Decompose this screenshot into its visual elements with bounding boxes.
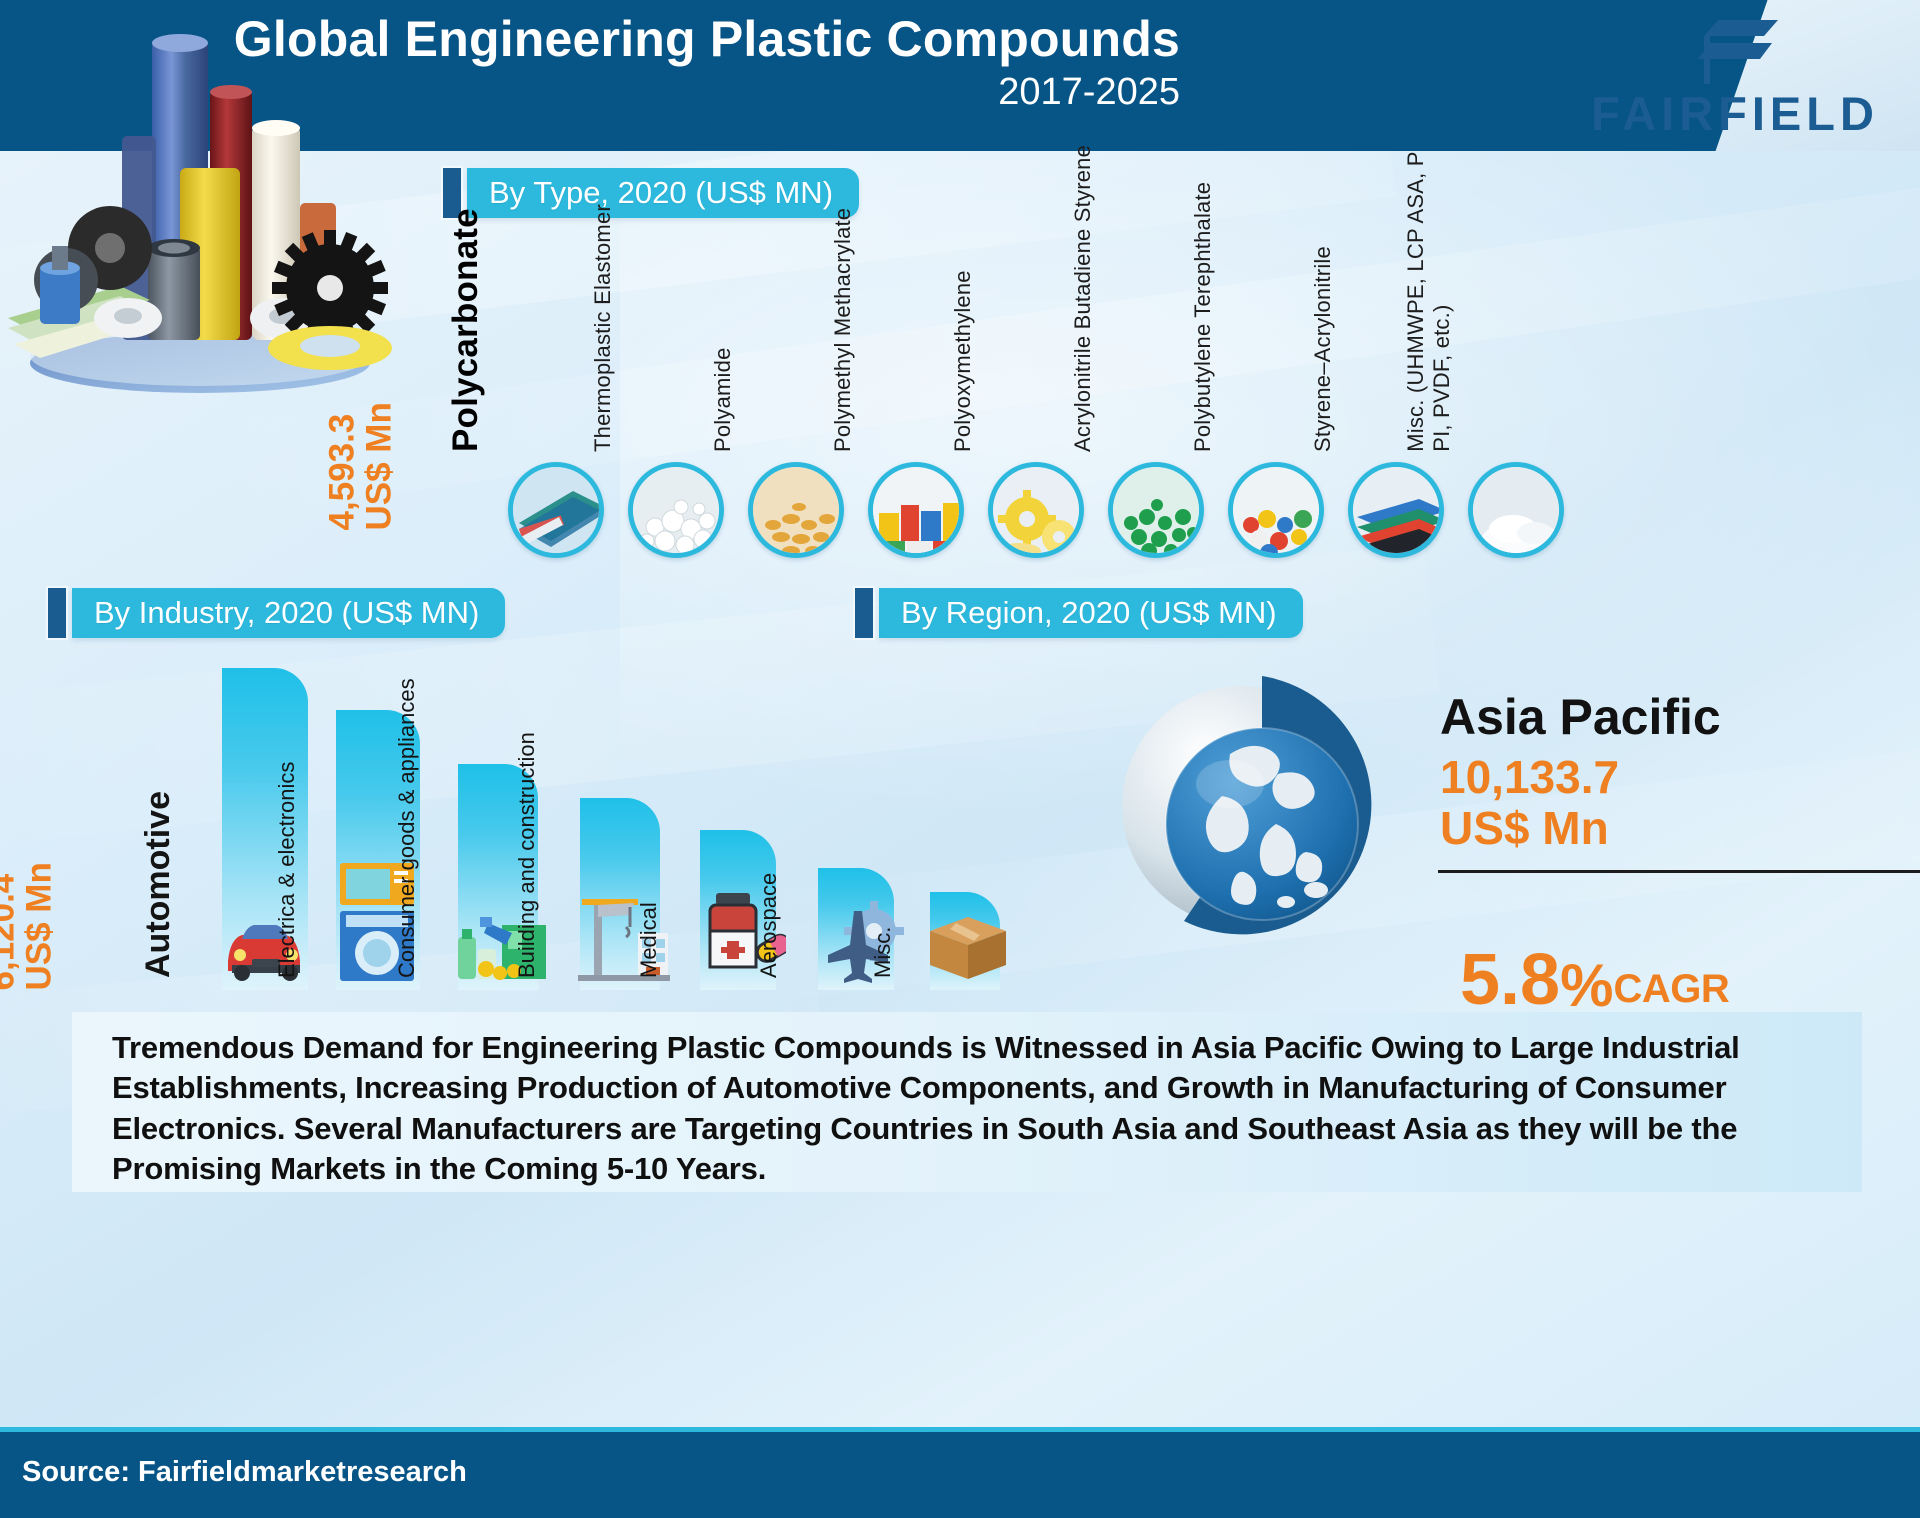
cagr-percent-sign: %: [1560, 959, 1613, 1013]
cardboard-box-icon: [926, 909, 1010, 988]
type-item-thermoplastic-elastomer[interactable]: Thermoplastic Elastomer: [628, 462, 724, 558]
region-donut-chart[interactable]: [1110, 656, 1400, 946]
bar-label-electrical-electronics: Electrica & electronics: [274, 762, 300, 978]
white-granules-icon: [628, 462, 724, 558]
type-label-polycarbonate: Polycarbonate: [446, 208, 486, 452]
type-item-abs[interactable]: Acrylonitrile Butadiene Styrene: [1108, 462, 1204, 558]
section-banner-by-industry: By Industry, 2020 (US$ MN): [48, 588, 505, 638]
colored-blocks-icon: [868, 462, 964, 558]
page-footer: Source: Fairfieldmarketresearch: [0, 1432, 1920, 1518]
source-label: Source: Fairfieldmarketresearch: [22, 1456, 467, 1489]
type-label-misc: Misc. (UHMWPE, LCP ASA, P PI, PVDF, etc.…: [1403, 92, 1456, 452]
banner-tick: [48, 588, 66, 638]
by-industry-chart: 6,120.4 US$ Mn Automotive Electrica &: [0, 640, 900, 990]
type-item-misc[interactable]: Misc. (UHMWPE, LCP ASA, P PI, PVDF, etc.…: [1468, 462, 1564, 558]
brand-logo[interactable]: FAIRFIELD: [1570, 12, 1900, 142]
by-type-leader-number: 4,593.3: [323, 413, 362, 530]
type-label-san: Styrene–Acrylonitrile: [1310, 246, 1336, 452]
yellow-gears-icon: [988, 462, 1084, 558]
by-industry-leader-unit: US$ Mn: [19, 862, 58, 990]
green-pellets-icon: [1108, 462, 1204, 558]
type-label-polymethyl-methacrylate: Polymethyl Methacrylate: [830, 208, 856, 452]
mixed-granules-icon: [1228, 462, 1324, 558]
type-item-polyoxymethylene[interactable]: Polyoxymethylene: [988, 462, 1084, 558]
type-label-pbt: Polybutylene Terephthalate: [1190, 182, 1216, 452]
banner-tick: [855, 588, 873, 638]
cagr-number: 5.8: [1460, 948, 1560, 1013]
by-type-leader-value: 4,593.3 US$ Mn: [325, 402, 399, 530]
type-item-polycarbonate[interactable]: Polycarbonate: [508, 462, 604, 558]
cagr-label: CAGR: [1613, 969, 1729, 1013]
plastic-sheets-icon: [508, 462, 604, 558]
brand-logo-text: FAIRFIELD: [1570, 86, 1900, 141]
region-leader-name: Asia Pacific: [1440, 688, 1721, 746]
infographic-page: Global Engineering Plastic Compounds 201…: [0, 0, 1920, 1518]
bar-label-misc: Misc.: [870, 927, 896, 978]
by-type-leader-unit: US$ Mn: [359, 402, 398, 530]
region-leader-value: 10,133.7 US$ Mn: [1440, 752, 1619, 853]
type-label-polyoxymethylene: Polyoxymethylene: [950, 270, 976, 452]
bar-label-aerospace: Aerospace: [756, 873, 782, 978]
fairfield-f-mark-icon: [1690, 16, 1782, 91]
bar-label-consumer-goods: Consumer goods & appliances: [394, 678, 420, 978]
white-powder-icon: [1468, 462, 1564, 558]
layered-plates-icon: [1348, 462, 1444, 558]
bar-label-automotive: Automotive: [139, 791, 178, 978]
type-label-thermoplastic-elastomer: Thermoplastic Elastomer: [590, 204, 616, 452]
by-type-row: 4,593.3 US$ Mn Polycarbonate Thermoplast…: [0, 200, 1920, 570]
bar-label-medical: Medical: [636, 902, 662, 978]
section-banner-by-region: By Region, 2020 (US$ MN): [855, 588, 1303, 638]
type-label-abs: Acrylonitrile Butadiene Styrene: [1070, 145, 1096, 452]
section-title-by-region: By Region, 2020 (US$ MN): [901, 595, 1277, 631]
highlight-text: Tremendous Demand for Engineering Plasti…: [112, 1028, 1836, 1189]
type-item-san[interactable]: Styrene–Acrylonitrile: [1348, 462, 1444, 558]
cagr-callout: 5.8 % CAGR: [1460, 948, 1729, 1013]
type-item-polymethyl-methacrylate[interactable]: Polymethyl Methacrylate: [868, 462, 964, 558]
region-leader-unit: US$ Mn: [1440, 802, 1609, 854]
type-item-pbt[interactable]: Polybutylene Terephthalate: [1228, 462, 1324, 558]
highlight-text-box: Tremendous Demand for Engineering Plasti…: [72, 1012, 1862, 1192]
section-title-by-industry: By Industry, 2020 (US$ MN): [94, 595, 479, 631]
banner-pill: By Industry, 2020 (US$ MN): [72, 588, 505, 638]
by-industry-leader-value: 6,120.4 US$ Mn: [0, 862, 58, 990]
type-item-polyamide[interactable]: Polyamide: [748, 462, 844, 558]
bar-label-building-construction: Building and construction: [514, 732, 540, 978]
region-leader-number: 10,133.7: [1440, 751, 1619, 803]
amber-pellets-icon: [748, 462, 844, 558]
banner-pill: By Region, 2020 (US$ MN): [879, 588, 1303, 638]
type-label-polyamide: Polyamide: [710, 347, 736, 452]
region-callout-line: [1438, 870, 1920, 873]
